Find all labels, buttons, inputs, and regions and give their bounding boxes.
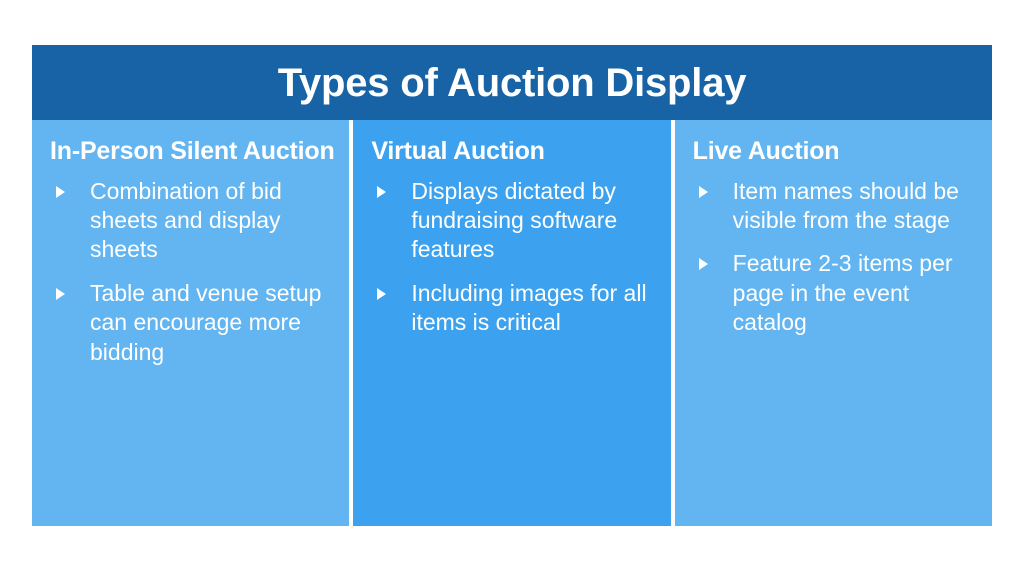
bullet-list-virtual-auction: Displays dictated by fundraising softwar…: [371, 177, 656, 338]
column-heading-virtual-auction: Virtual Auction: [371, 136, 656, 167]
triangle-right-icon: [50, 177, 90, 198]
triangle-right-icon: [371, 177, 411, 198]
list-item: Item names should be visible from the st…: [693, 177, 978, 236]
bullet-list-in-person-silent-auction: Combination of bid sheets and display sh…: [50, 177, 335, 368]
bullet-text: Combination of bid sheets and display sh…: [90, 177, 335, 265]
column-live-auction: Live Auction Item names should be visibl…: [675, 120, 992, 526]
bullet-text: Including images for all items is critic…: [411, 279, 656, 338]
list-item: Feature 2-3 items per page in the event …: [693, 249, 978, 337]
triangle-right-icon: [371, 279, 411, 300]
list-item: Table and venue setup can encourage more…: [50, 279, 335, 367]
bullet-text: Displays dictated by fundraising softwar…: [411, 177, 656, 265]
list-item: Displays dictated by fundraising softwar…: [371, 177, 656, 265]
triangle-right-icon: [693, 249, 733, 270]
bullet-text: Table and venue setup can encourage more…: [90, 279, 335, 367]
list-item: Including images for all items is critic…: [371, 279, 656, 338]
bullet-text: Item names should be visible from the st…: [733, 177, 978, 236]
page-title: Types of Auction Display: [278, 63, 747, 103]
columns-container: In-Person Silent Auction Combination of …: [32, 120, 992, 526]
list-item: Combination of bid sheets and display sh…: [50, 177, 335, 265]
column-heading-in-person-silent-auction: In-Person Silent Auction: [50, 136, 335, 167]
bullet-list-live-auction: Item names should be visible from the st…: [693, 177, 978, 338]
slide-title-bar: Types of Auction Display: [32, 45, 992, 120]
triangle-right-icon: [693, 177, 733, 198]
column-in-person-silent-auction: In-Person Silent Auction Combination of …: [32, 120, 349, 526]
triangle-right-icon: [50, 279, 90, 300]
slide-canvas: Types of Auction Display In-Person Silen…: [0, 0, 1024, 561]
bullet-text: Feature 2-3 items per page in the event …: [733, 249, 978, 337]
column-virtual-auction: Virtual Auction Displays dictated by fun…: [353, 120, 670, 526]
auction-display-card: Types of Auction Display In-Person Silen…: [32, 45, 992, 526]
column-heading-live-auction: Live Auction: [693, 136, 978, 167]
